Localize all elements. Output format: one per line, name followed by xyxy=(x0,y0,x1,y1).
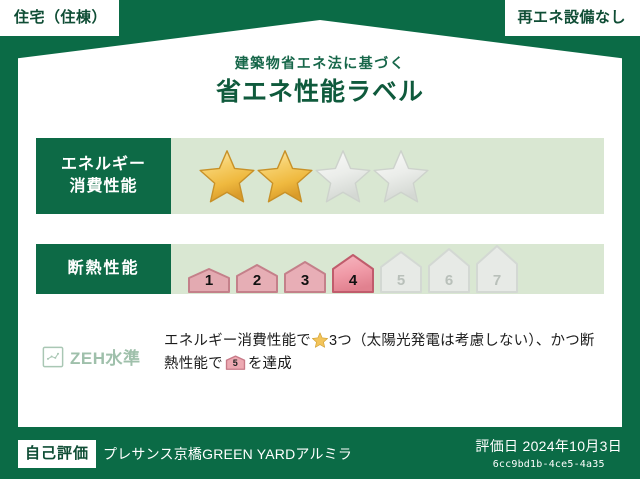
star-icon-4 xyxy=(373,149,429,203)
insulation-badge-inline-number: 5 xyxy=(225,356,246,370)
footer-right: 評価日 2024年10月3日 6cc9bd1b-4ce5-4a35 xyxy=(475,436,622,470)
zeh-label: ZEH水準 xyxy=(70,344,141,369)
insulation-level-1-number: 1 xyxy=(186,273,232,288)
title-block: 建築物省エネ法に基づく 省エネ性能ラベル xyxy=(18,55,622,108)
insulation-level-5-number: 5 xyxy=(378,273,424,288)
self-evaluation-badge: 自己評価 xyxy=(18,440,96,468)
star-icon-1 xyxy=(199,149,255,203)
insulation-performance-label: 断熱性能 xyxy=(36,244,171,294)
building-name: プレサンス京橋GREEN YARDアルミラ xyxy=(103,444,352,464)
zeh-mark: ZEH水準 xyxy=(36,330,162,369)
insulation-performance-row: 断熱性能 1 2 xyxy=(36,244,604,294)
solar-panel-icon xyxy=(42,346,64,368)
evaluation-id: 6cc9bd1b-4ce5-4a35 xyxy=(475,459,622,470)
zeh-section: ZEH水準 エネルギー消費性能で3つ（太陽光発電は考慮しない）、かつ断熱性能で5… xyxy=(36,330,604,377)
energy-performance-label: 住宅（住棟） 再エネ設備なし 建築物省エネ法に基づく 省エネ性能ラベル エネルギ… xyxy=(0,0,640,479)
insulation-level-7-number: 7 xyxy=(474,273,520,288)
insulation-level-2: 2 xyxy=(234,263,280,293)
energy-label-line1: エネルギー xyxy=(61,154,146,176)
star-icon-2 xyxy=(257,149,313,203)
insulation-level-6-number: 6 xyxy=(426,273,472,288)
insulation-level-4: 4 xyxy=(330,253,376,293)
building-type-badge: 住宅（住棟） xyxy=(0,0,119,36)
energy-performance-row: エネルギー 消費性能 xyxy=(36,138,604,214)
star-rating xyxy=(199,149,429,203)
zeh-description-part1: エネルギー消費性能で xyxy=(164,333,311,349)
zeh-description: エネルギー消費性能で3つ（太陽光発電は考慮しない）、かつ断熱性能で5を達成 xyxy=(162,330,604,377)
insulation-level-3: 3 xyxy=(282,260,328,293)
insulation-level-6: 6 xyxy=(426,247,472,293)
star-icon-3 xyxy=(315,149,371,203)
insulation-badge-inline: 5 xyxy=(225,355,246,370)
footer-left: 自己評価 プレサンス京橋GREEN YARDアルミラ xyxy=(18,440,352,468)
renewable-energy-badge: 再エネ設備なし xyxy=(505,0,640,36)
label-subtitle: 建築物省エネ法に基づく xyxy=(18,55,622,72)
zeh-description-part3: を達成 xyxy=(248,356,292,372)
insulation-level-7: 7 xyxy=(474,244,520,293)
insulation-level-1: 1 xyxy=(186,267,232,293)
insulation-level-2-number: 2 xyxy=(234,273,280,288)
page-title: 省エネ性能ラベル xyxy=(18,77,622,108)
insulation-performance-value: 1 2 3 xyxy=(171,244,604,294)
evaluation-date: 評価日 2024年10月3日 xyxy=(475,436,622,456)
energy-performance-value xyxy=(171,138,604,214)
energy-label-line2: 消費性能 xyxy=(69,176,137,198)
insulation-level-5: 5 xyxy=(378,250,424,293)
energy-performance-label: エネルギー 消費性能 xyxy=(36,138,171,214)
star-icon-inline xyxy=(312,332,328,348)
insulation-scale: 1 2 3 xyxy=(186,243,520,295)
insulation-level-3-number: 3 xyxy=(282,273,328,288)
insulation-level-4-number: 4 xyxy=(330,273,376,288)
